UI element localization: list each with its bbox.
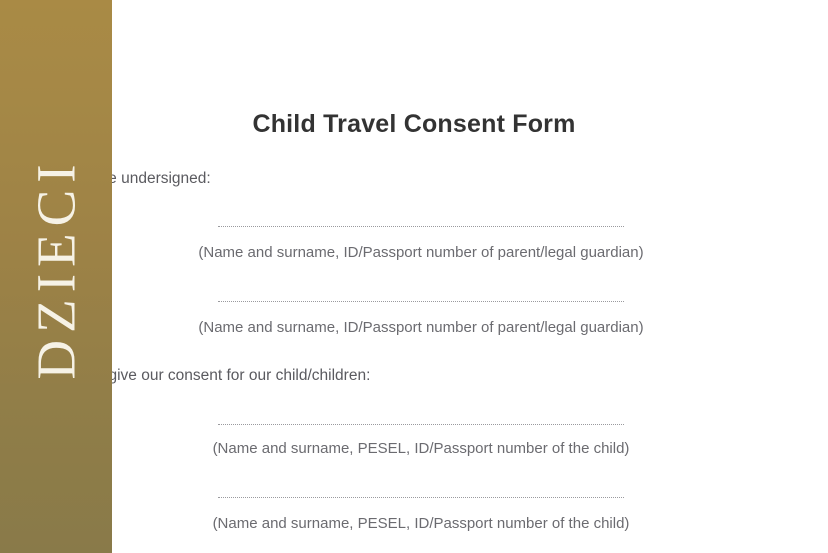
intro-line-consent: reby give our consent for our child/chil… [74,367,674,385]
dotted-fill-line-guardian-2[interactable] [218,301,624,302]
field-caption-guardian-1: (Name and surname, ID/Passport number of… [118,244,724,261]
document-content: Child Travel Consent Form e, the undersi… [0,0,828,553]
intro-line-undersigned: e, the undersigned: [78,170,678,188]
document-page: Child Travel Consent Form e, the undersi… [0,0,828,553]
dotted-fill-line-guardian-1[interactable] [218,226,624,227]
field-caption-guardian-2: (Name and surname, ID/Passport number of… [118,319,724,336]
side-band-wordmark: DZIECI [29,157,84,386]
field-caption-child-2: (Name and surname, PESEL, ID/Passport nu… [118,515,724,532]
dotted-fill-line-child-2[interactable] [218,497,624,498]
page-title: Child Travel Consent Form [0,110,828,139]
dotted-fill-line-child-1[interactable] [218,424,624,425]
field-caption-child-1: (Name and surname, PESEL, ID/Passport nu… [118,440,724,457]
gold-side-band: DZIECI [0,0,112,553]
